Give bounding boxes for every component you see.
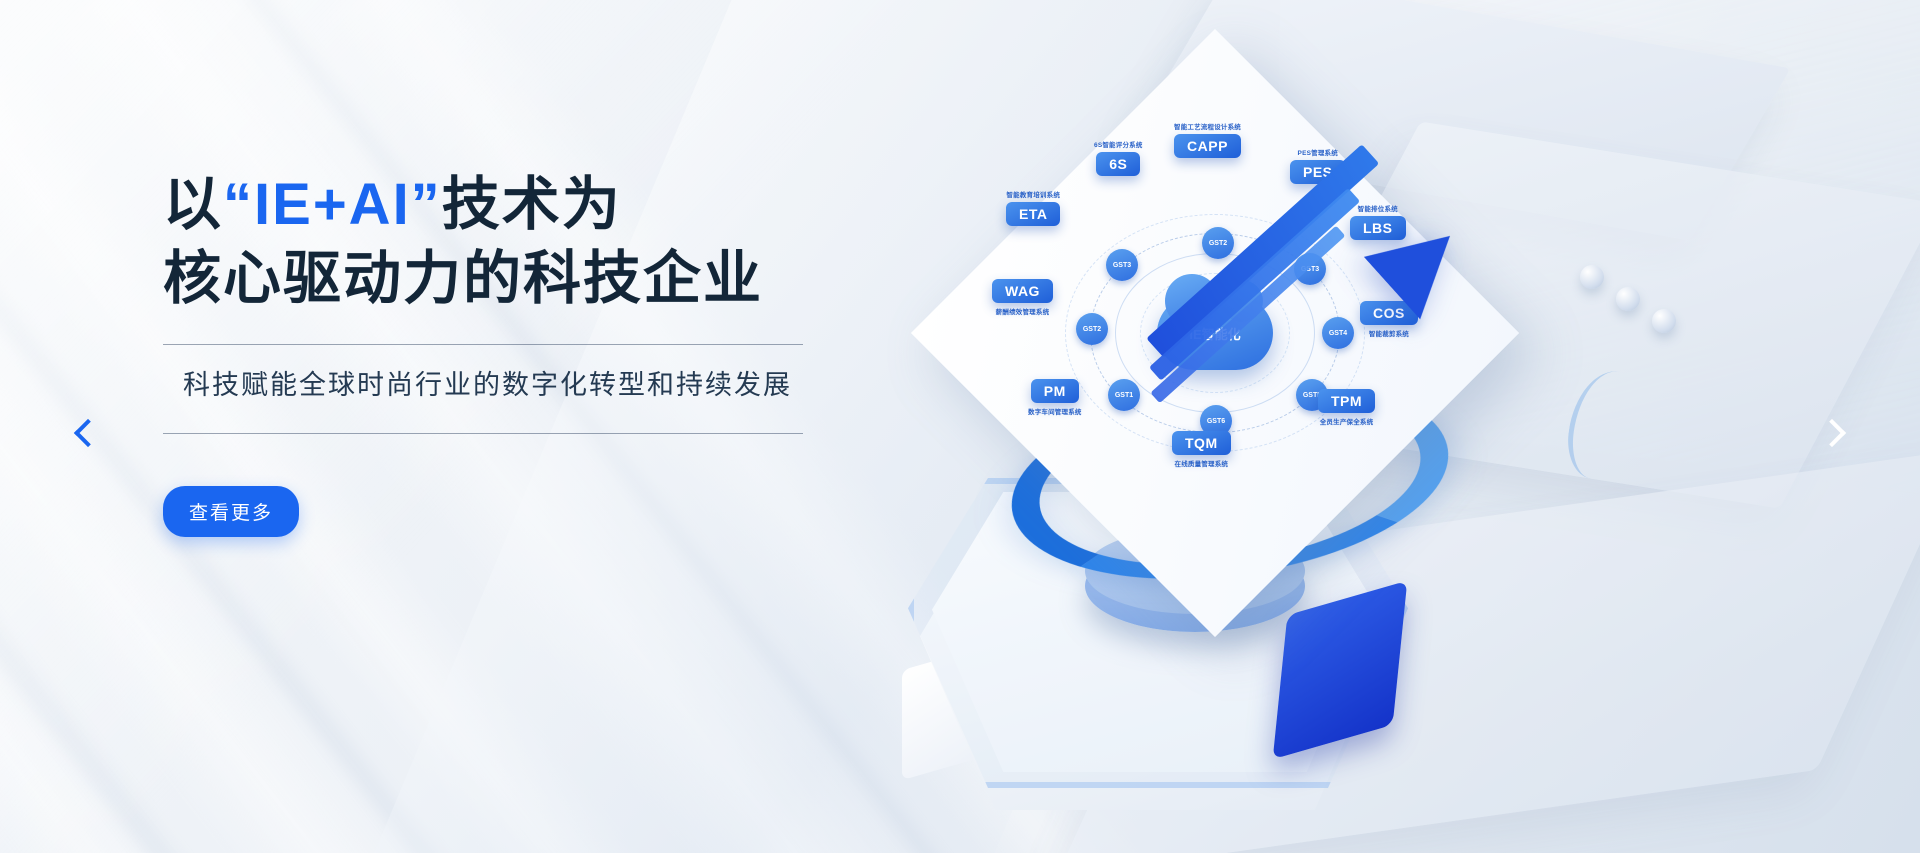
chevron-left-icon	[74, 419, 102, 447]
diagram-chip-6s: 6S智能评分系统 6S	[1094, 139, 1143, 176]
carousel-prev-button[interactable]	[62, 410, 108, 456]
chip-code: ETA	[1006, 202, 1060, 226]
chip-code: 6S	[1096, 152, 1140, 176]
view-more-button[interactable]: 查看更多	[163, 486, 299, 537]
decorative-blade	[1563, 366, 1648, 485]
chip-caption: 智能工艺流程设计系统	[1174, 121, 1241, 131]
chip-caption: PES管理系统	[1298, 147, 1338, 157]
diagram-chip-eta: 智能教育培训系统 ETA	[1006, 189, 1060, 226]
diagram-node: GST1	[1108, 379, 1140, 411]
diagram-node: GST2	[1076, 313, 1108, 345]
divider-bottom	[163, 433, 803, 434]
hero-copy: 以“IE+AI”技术为 核心驱动力的科技企业 科技赋能全球时尚行业的数字化转型和…	[163, 168, 943, 537]
chip-caption: 数字车间管理系统	[1028, 406, 1082, 416]
hero-illustration: GST3 GST2 GST3 GST2 GST4 GST1 GST5 GST6 …	[880, 40, 1780, 840]
carousel-next-button[interactable]	[1812, 410, 1858, 456]
chip-code: PM	[1031, 379, 1079, 403]
chevron-right-icon	[1818, 419, 1846, 447]
hero-banner: GST3 GST2 GST3 GST2 GST4 GST1 GST5 GST6 …	[0, 0, 1920, 853]
headline-prefix: 以	[163, 172, 223, 237]
chip-code: CAPP	[1174, 134, 1241, 158]
diagram-chip-wag: WAG 薪酬绩效管理系统	[992, 279, 1053, 316]
chip-code: WAG	[992, 279, 1053, 303]
chip-caption: 智能排位系统	[1358, 203, 1398, 213]
diagram-node: GST3	[1106, 249, 1138, 281]
headline-suffix: 技术为	[442, 172, 622, 237]
chip-caption: 6S智能评分系统	[1094, 139, 1143, 149]
page-title-line-1: 以“IE+AI”技术为	[163, 168, 943, 242]
chip-caption: 智能教育培训系统	[1006, 189, 1060, 199]
hero-subtitle: 科技赋能全球时尚行业的数字化转型和持续发展	[163, 345, 943, 407]
chip-caption: 薪酬绩效管理系统	[996, 306, 1050, 316]
diagram-chip-pm: PM 数字车间管理系统	[1028, 379, 1082, 416]
page-title-line-2: 核心驱动力的科技企业	[163, 242, 943, 316]
diagram-chip-capp: 智能工艺流程设计系统 CAPP	[1174, 121, 1241, 158]
headline-accent: “IE+AI”	[223, 172, 442, 237]
growth-arrow	[1155, 215, 1455, 575]
